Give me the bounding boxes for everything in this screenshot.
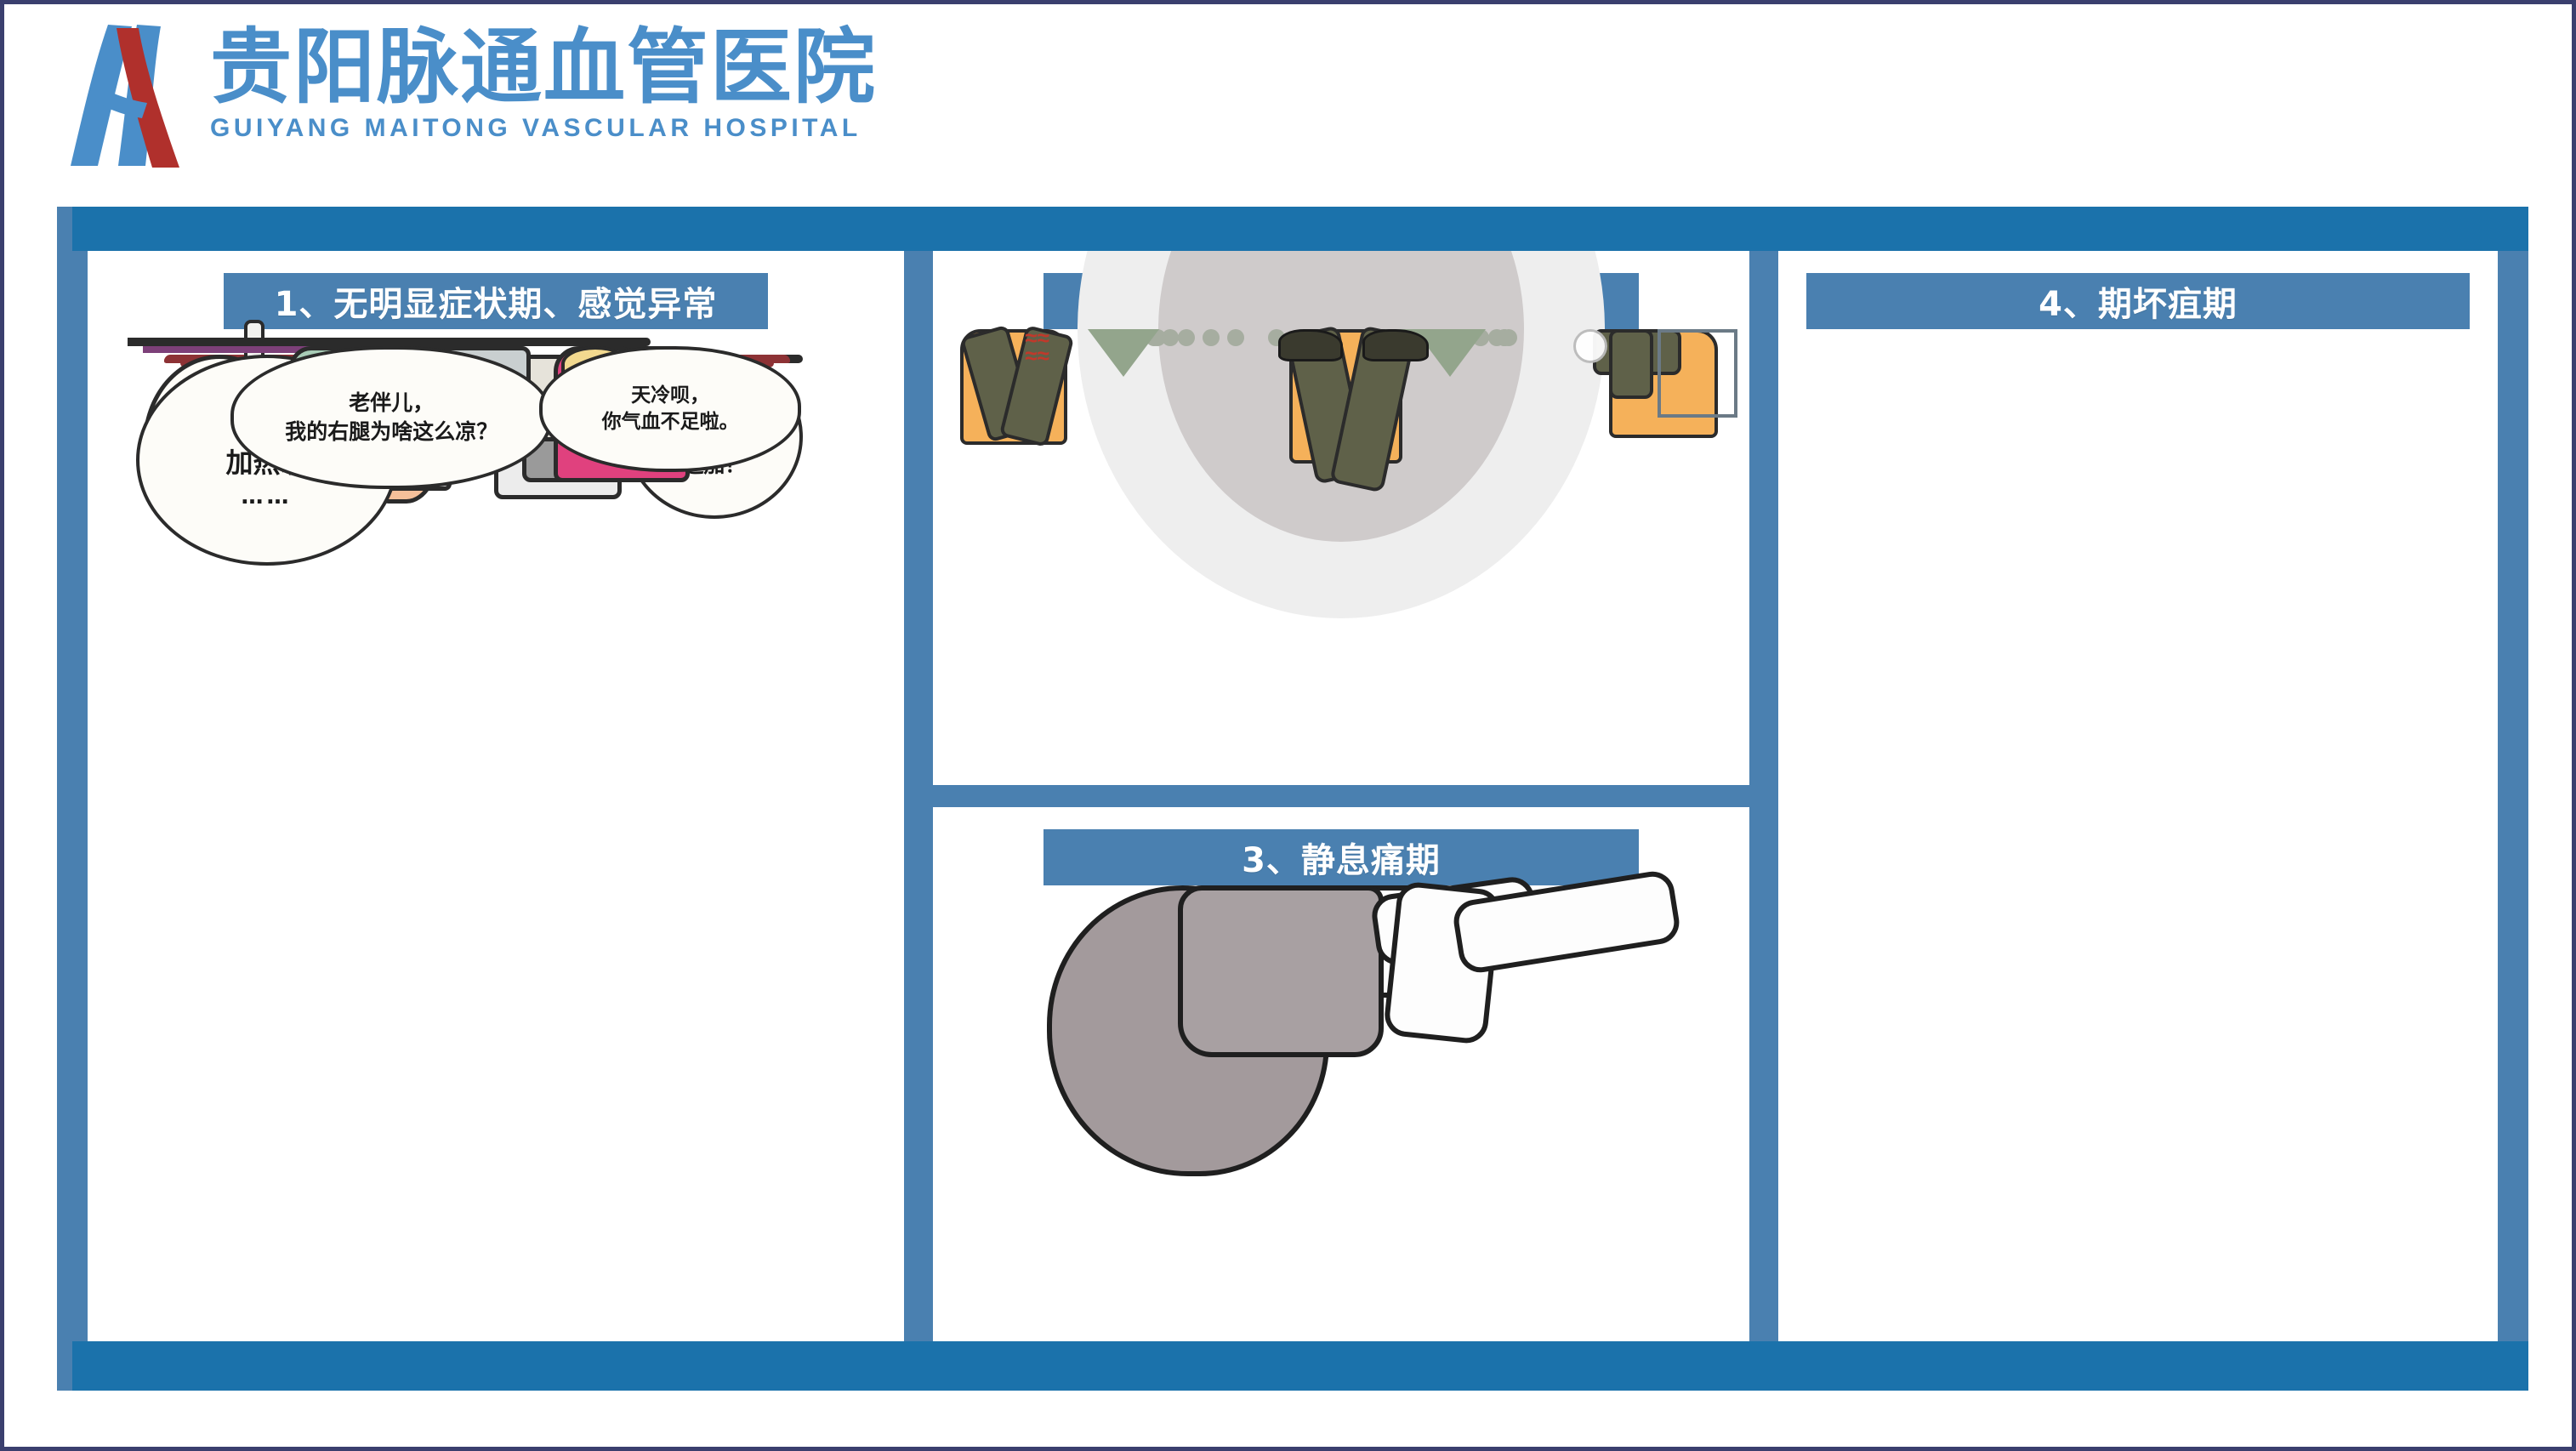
cycle-arrow-left — [1088, 329, 1159, 377]
stage-1-header: 1、无明显症状期、感觉异常 — [224, 273, 768, 329]
stage-1-title: 1、无明显症状期、感觉异常 — [275, 276, 718, 326]
pain-marks-icon: ≈≈≈≈ — [1025, 329, 1049, 365]
hospital-header: 贵阳脉通血管医院 GUIYANG MAITONG VASCULAR HOSPIT… — [4, 4, 2572, 198]
bubble-left-line-3: …… — [242, 482, 293, 512]
right-man-puff — [1573, 329, 1607, 363]
center-man-shoe-back — [1278, 329, 1343, 361]
frame-bottom-bar — [57, 1341, 2528, 1391]
column-one: 1、无明显症状期、感觉异常 — [88, 251, 904, 1341]
stage-4-header: 4、期坏疽期 — [1806, 273, 2470, 329]
frame-top-bar — [57, 207, 2528, 251]
content-frame: 1、无明显症状期、感觉异常 — [57, 207, 2528, 1391]
bed-bubble-right-line-1: 天冷呗， — [631, 383, 709, 409]
cycle-dot — [1178, 329, 1195, 346]
rest-person-hips — [1178, 885, 1384, 1057]
card-stage-1: 1、无明显症状期、感觉异常 — [88, 251, 904, 1341]
bed-bubble-right-line-2: 你气血不足啦。 — [602, 409, 739, 435]
frame-left-bar — [57, 207, 72, 1391]
stage-3-title: 3、静息痛期 — [1242, 833, 1441, 882]
cycle-dot — [1227, 329, 1244, 346]
stage-4-photo-bottom-wrap — [1778, 329, 2498, 344]
right-man-shin — [1609, 329, 1653, 399]
stage-columns: 1、无明显症状期、感觉异常 — [72, 251, 2513, 1341]
card-stage-3: 3、静息痛期 — [933, 807, 1749, 1341]
bed-bubble-left-line-1: 老伴儿， — [349, 389, 434, 418]
hospital-name-cn: 贵阳脉通血管医院 — [210, 25, 877, 111]
chair-icon — [1658, 329, 1737, 418]
bed-footboard — [128, 338, 180, 346]
column-two: 2、间歇性跛行期 — [933, 251, 1749, 1341]
hospital-logo: 贵阳脉通血管医院 GUIYANG MAITONG VASCULAR HOSPIT… — [64, 20, 877, 173]
card-stage-2: 2、间歇性跛行期 — [933, 251, 1749, 785]
stage-3-header: 3、静息痛期 — [1043, 829, 1639, 885]
poster-page: 贵阳脉通血管医院 GUIYANG MAITONG VASCULAR HOSPIT… — [0, 0, 2576, 1451]
card-stage-4: 4、期坏疽期 — [1778, 251, 2498, 1341]
bed-bubble-right: 天冷呗， 你气血不足啦。 — [539, 346, 801, 472]
vascular-ribbon-logo-icon — [64, 20, 191, 173]
hospital-name-en: GUIYANG MAITONG VASCULAR HOSPITAL — [210, 114, 877, 143]
stage-4-title: 4、期坏疽期 — [2039, 276, 2238, 326]
column-three: 4、期坏疽期 — [1778, 251, 2498, 1341]
bed-bubble-left-line-2: 我的右腿为啥这么凉？ — [285, 418, 498, 447]
cycle-dot — [1203, 329, 1220, 346]
center-man-shoe-front — [1362, 329, 1429, 361]
bed — [128, 338, 651, 346]
bed-bubble-left: 老伴儿， 我的右腿为啥这么凉？ — [230, 346, 552, 489]
